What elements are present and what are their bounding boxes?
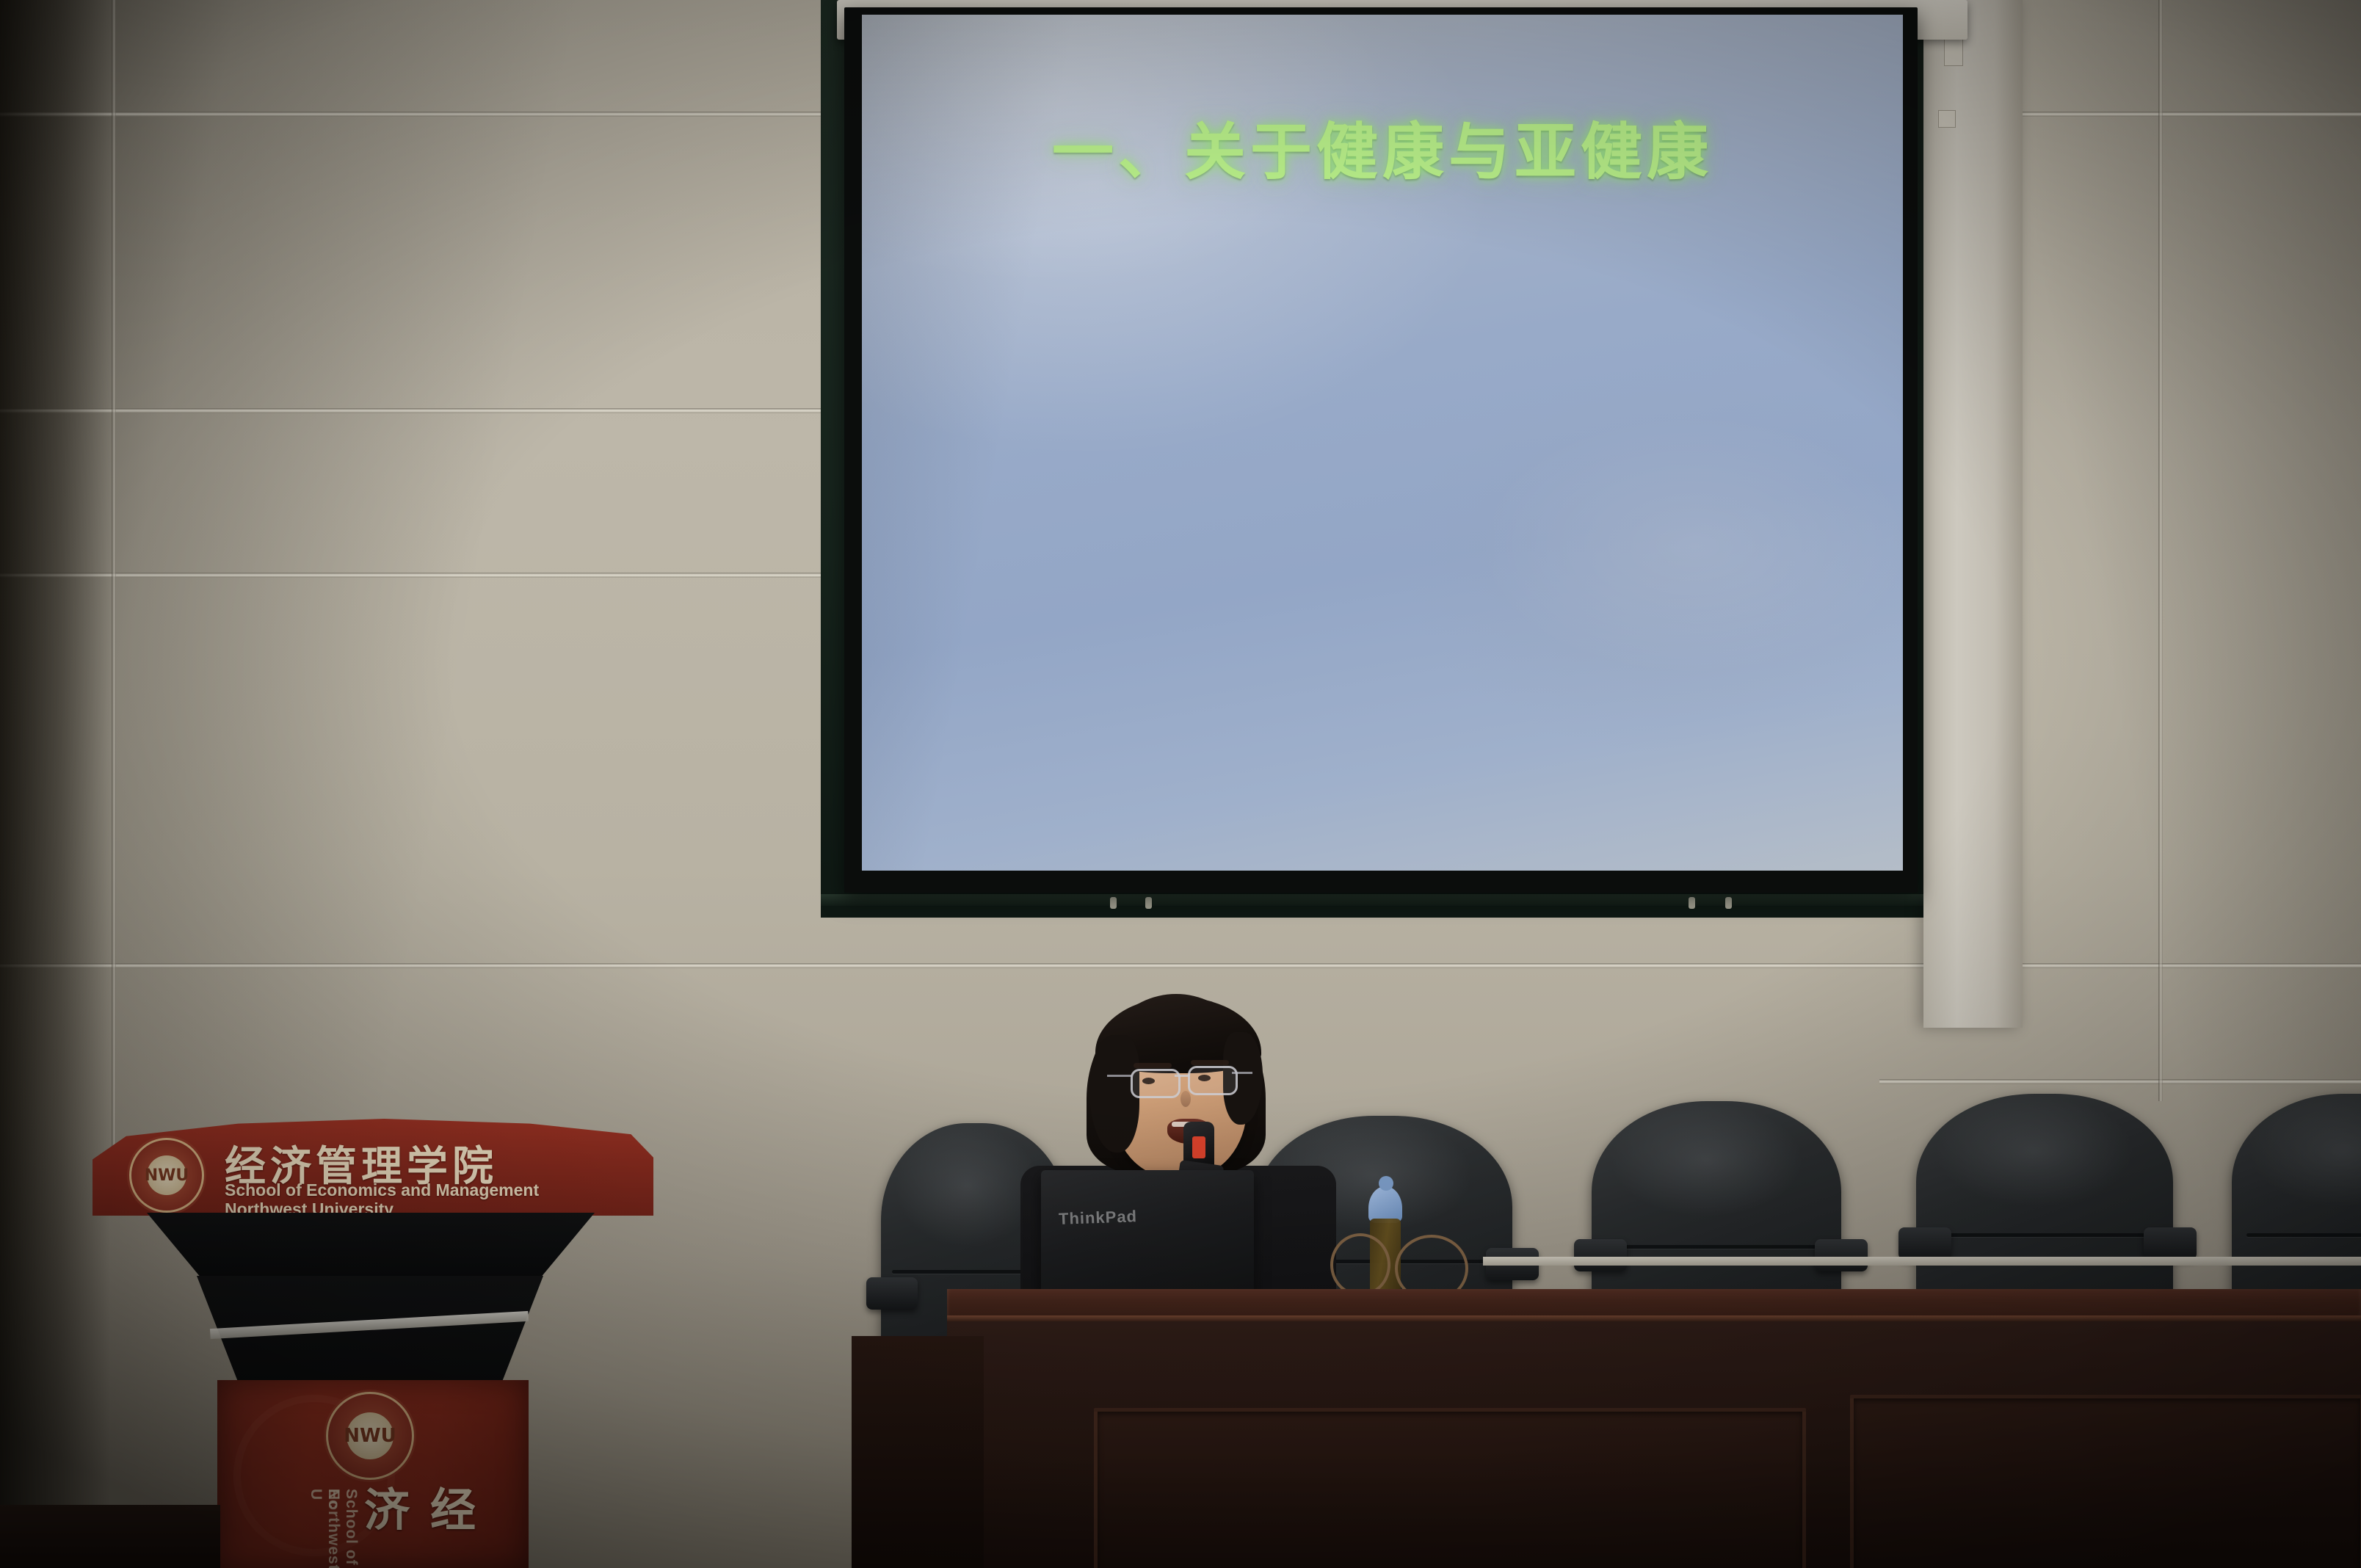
bottle-cap-loop-icon xyxy=(1379,1176,1393,1191)
slide-title: 一、关于健康与亚健康 xyxy=(862,103,1903,192)
glasses-lens-left xyxy=(1131,1069,1180,1098)
microphone-band xyxy=(1192,1136,1205,1158)
blackboard-ledge xyxy=(821,894,1966,906)
chair-4 xyxy=(1916,1094,2173,1314)
chair-seam xyxy=(1932,1233,2158,1237)
chair-armrest xyxy=(1815,1239,1868,1271)
table-front-panel-right xyxy=(1850,1395,2361,1568)
speaker-eyebrow-right xyxy=(1191,1060,1229,1065)
podium-top-panel[interactable]: NWU 经济管理学院 School of Economics and Manag… xyxy=(93,1119,653,1216)
chair-armrest xyxy=(2144,1227,2197,1260)
desk-cable-loop-left xyxy=(1330,1233,1390,1296)
chalk-piece xyxy=(1725,897,1732,909)
wall-seam-horizontal-3 xyxy=(0,573,866,578)
podium-body xyxy=(147,1213,595,1277)
laptop-brand-logo: ThinkPad xyxy=(1059,1207,1138,1229)
table-front-panel-left xyxy=(1094,1408,1806,1568)
chair-armrest xyxy=(1898,1227,1951,1260)
chair-armrest xyxy=(866,1277,918,1310)
glasses-bridge xyxy=(1175,1075,1189,1077)
glasses-lens-right xyxy=(1188,1066,1238,1095)
wall-seam-vertical-1 xyxy=(112,0,116,1175)
chair-5 xyxy=(2232,1094,2361,1314)
glasses-temple-right xyxy=(1232,1072,1252,1074)
podium-column-seal-icon: NWU xyxy=(326,1392,414,1480)
chalk-piece xyxy=(1689,897,1695,909)
chair-backrest xyxy=(2232,1094,2361,1314)
projection-screen-surface: 一、关于健康与亚健康 xyxy=(862,15,1903,871)
speaker-nose xyxy=(1180,1091,1191,1107)
wall-seam-horizontal-5 xyxy=(1879,1079,2361,1084)
speaker-eyebrow-left xyxy=(1134,1063,1172,1068)
chair-armrest xyxy=(1574,1239,1627,1271)
floor-shadow xyxy=(0,1505,220,1568)
seal-text: NWU xyxy=(328,1394,412,1478)
wall-mounted-plate xyxy=(1944,38,1963,66)
wall-shadow-left xyxy=(0,0,110,1568)
podium-column-english-line2: Northwest U xyxy=(307,1489,342,1568)
podium-english-line1: School of Economics and Management xyxy=(225,1180,539,1200)
desk-side-block xyxy=(852,1336,984,1568)
chalk-piece xyxy=(1110,897,1117,909)
podium-top-inner: NWU 经济管理学院 School of Economics and Manag… xyxy=(93,1119,653,1216)
wall-pillar xyxy=(1923,0,2023,1028)
wall-seam-horizontal-2 xyxy=(0,408,866,413)
chair-backrest xyxy=(1916,1094,2173,1314)
glasses-temple-left xyxy=(1107,1075,1132,1077)
laptop-lid xyxy=(1041,1170,1254,1307)
chair-seam xyxy=(2246,1233,2361,1237)
university-seal-icon: NWU xyxy=(129,1138,204,1213)
wall-mounted-plate xyxy=(1938,110,1956,128)
podium-column-chinese: 经济 xyxy=(349,1486,482,1568)
lecture-hall-photo: Bewinner 一、关于健康与亚健康 xyxy=(0,0,2361,1568)
chair-seam xyxy=(1606,1245,1826,1249)
chalk-piece xyxy=(1145,897,1152,909)
seal-text: NWU xyxy=(131,1140,202,1211)
wall-seam-vertical-3 xyxy=(2158,0,2163,1101)
wall-baseboard xyxy=(1483,1257,2361,1266)
